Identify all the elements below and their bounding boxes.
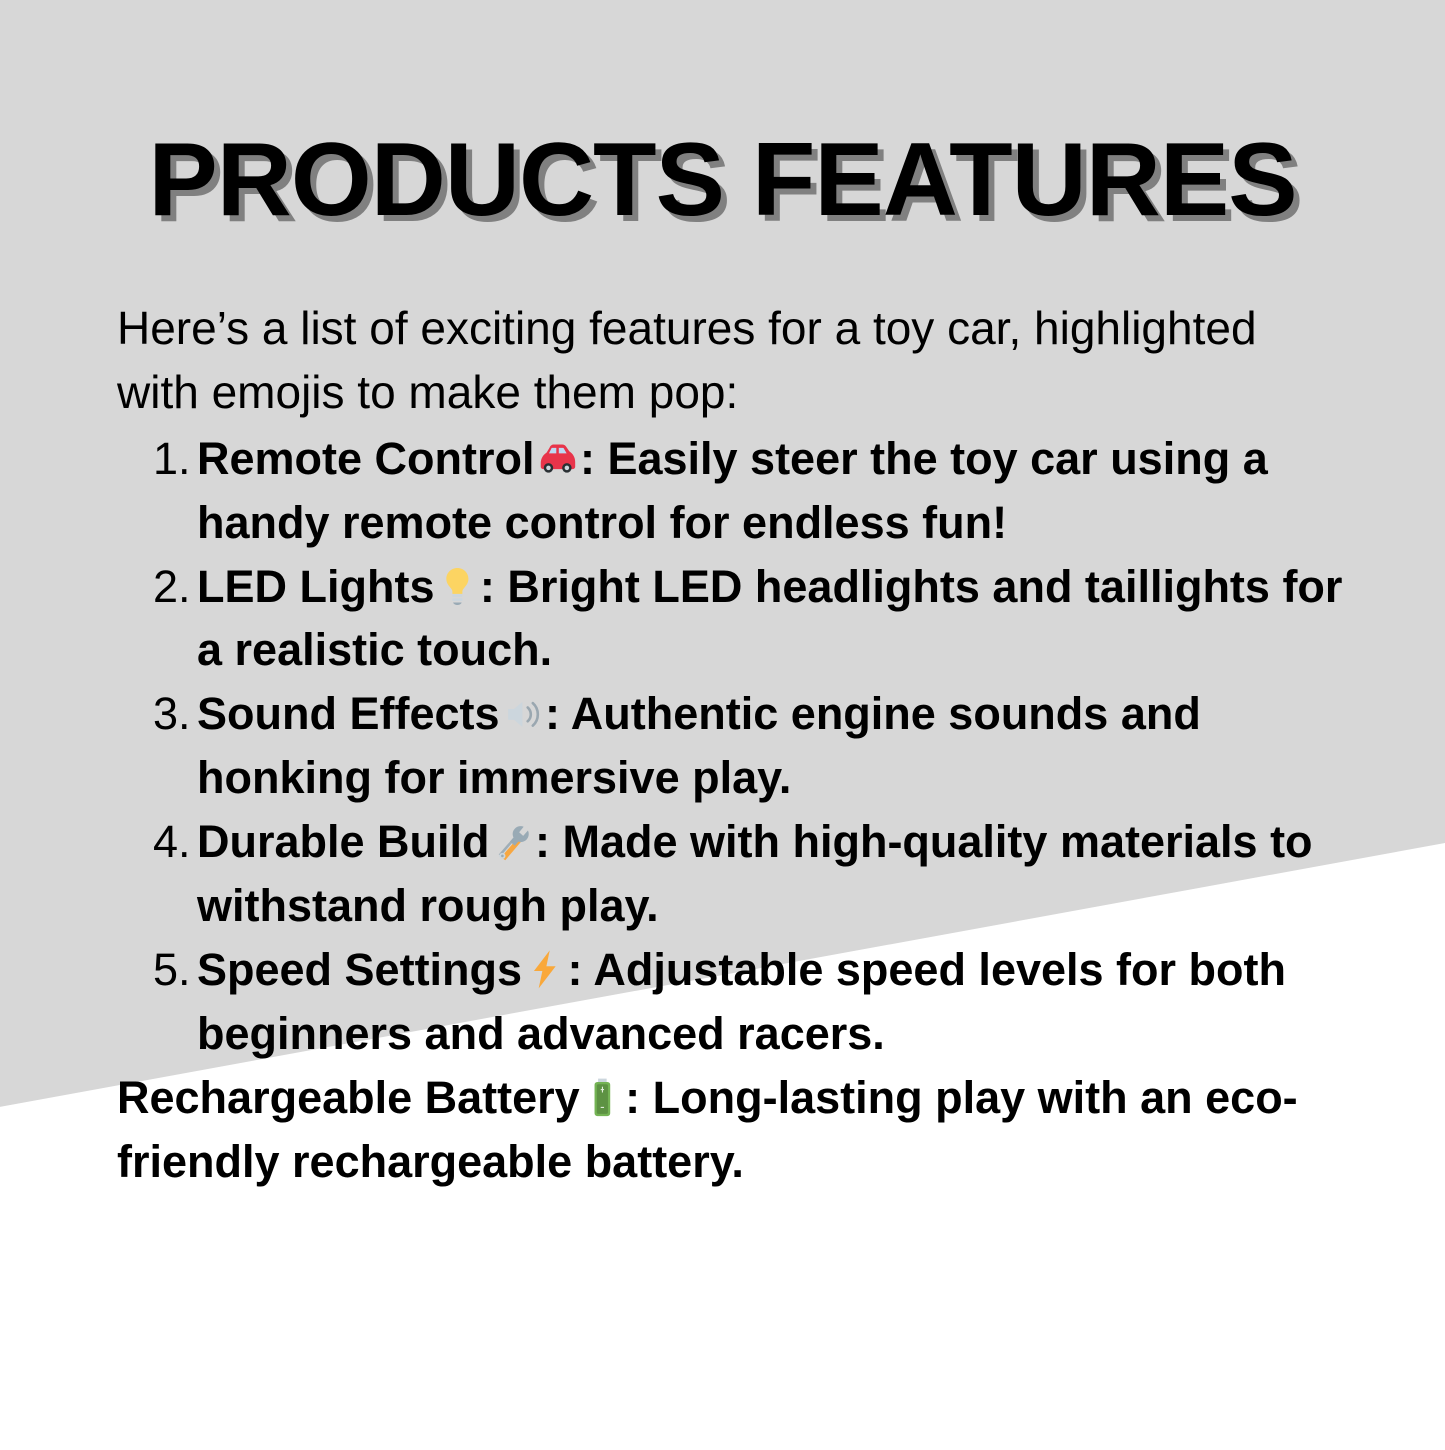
list-marker: 4.	[153, 810, 197, 874]
feature-label: Rechargeable Battery	[117, 1072, 580, 1123]
list-marker: 5.	[153, 938, 197, 1002]
slide-canvas: PRODUCTS FEATURES Here’s a list of excit…	[0, 0, 1445, 1450]
list-marker: 2.	[153, 555, 197, 619]
page-title: PRODUCTS FEATURES	[0, 126, 1445, 235]
speaker-high-volume-emoji	[500, 687, 545, 740]
feature-label: Speed Settings	[197, 944, 522, 995]
feature-label: Sound Effects	[197, 688, 500, 739]
feature-separator: :	[580, 433, 608, 484]
list-item: 4.Durable Build: Made with high-quality …	[117, 810, 1349, 938]
battery-emoji	[580, 1071, 625, 1124]
list-marker: 1.	[153, 427, 197, 491]
features-body: Here’s a list of exciting features for a…	[117, 296, 1349, 1193]
list-item: 2.LED Lights: Bright LED headlights and …	[117, 555, 1349, 683]
car-emoji	[535, 432, 580, 485]
features-list: 1.Remote Control: Easily steer the toy c…	[117, 427, 1349, 1066]
light-bulb-emoji	[434, 560, 479, 613]
feature-separator: :	[568, 944, 594, 995]
slide-content: PRODUCTS FEATURES Here’s a list of excit…	[0, 0, 1445, 1450]
list-item: 3.Sound Effects: Authentic engine sounds…	[117, 682, 1349, 810]
hammer-and-wrench-emoji	[490, 815, 535, 868]
feature-separator: :	[625, 1072, 653, 1123]
feature-separator: :	[480, 561, 508, 612]
list-item: 1.Remote Control: Easily steer the toy c…	[117, 427, 1349, 555]
feature-label: Remote Control	[197, 433, 535, 484]
intro-paragraph: Here’s a list of exciting features for a…	[117, 296, 1349, 425]
tail-feature-paragraph: Rechargeable Battery: Long-lasting play …	[117, 1066, 1349, 1194]
list-marker: 3.	[153, 682, 197, 746]
list-item: 5.Speed Settings: Adjustable speed level…	[117, 938, 1349, 1066]
feature-separator: :	[545, 688, 571, 739]
feature-separator: :	[535, 816, 563, 867]
feature-label: LED Lights	[197, 561, 434, 612]
feature-label: Durable Build	[197, 816, 490, 867]
high-voltage-emoji	[522, 943, 567, 996]
